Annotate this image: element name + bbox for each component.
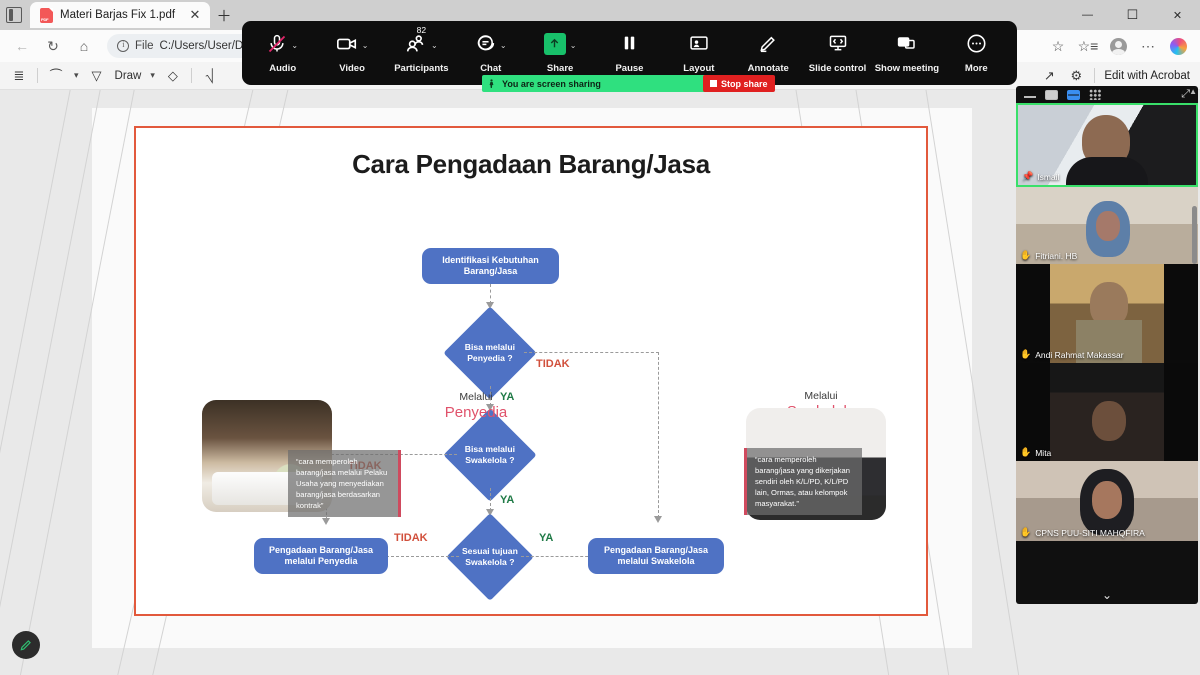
- browser-tab[interactable]: Materi Barjas Fix 1.pdf ✕: [30, 2, 210, 28]
- minimize-view-icon[interactable]: [1024, 92, 1036, 98]
- connector: [490, 488, 491, 511]
- slide-control-icon: [827, 33, 849, 53]
- chat-label: Chat: [480, 63, 501, 74]
- video-tile-name-row: ✋ Andi Rahmat Makassar: [1020, 349, 1124, 360]
- video-label: Video: [339, 63, 365, 74]
- pdf-file-icon: [40, 8, 53, 23]
- eraser-icon[interactable]: ◇: [164, 66, 182, 86]
- pdf-page: Cara Pengadaan Barang/Jasa Identifikasi …: [92, 108, 972, 648]
- edge-label-tidak-3: TIDAK: [394, 532, 428, 544]
- share-chevron-down-icon[interactable]: ⌄: [570, 41, 577, 50]
- camera-icon: [336, 33, 358, 55]
- video-tile-name-row: ✋ Mita: [1020, 447, 1051, 458]
- url-scheme: File: [135, 40, 154, 52]
- browser-actions: ☆ ☆≡ ⋯: [1044, 33, 1192, 59]
- list-icon[interactable]: ≣: [10, 66, 28, 86]
- info-icon: [117, 40, 129, 52]
- highlighter-icon[interactable]: ⏜: [47, 66, 65, 86]
- connector: [658, 352, 659, 518]
- zoom-control-participants[interactable]: 82 ⌄ Participants: [387, 21, 456, 85]
- close-tab-icon[interactable]: ✕: [187, 7, 203, 23]
- pencil-icon: [19, 638, 33, 652]
- page-title: Cara Pengadaan Barang/Jasa: [136, 149, 926, 180]
- video-tiles: 📌 Ismail ✋ Fitriani. HB ✋ And: [1016, 103, 1198, 541]
- flow-node-start: Identifikasi Kebutuhan Barang/Jasa: [422, 248, 559, 284]
- slide-control-label: Slide control: [809, 63, 867, 74]
- zoom-control-audio[interactable]: ⌄ Audio: [248, 21, 317, 85]
- right-caption-pre: Melalui: [766, 390, 876, 402]
- strip-view-icon[interactable]: [1067, 90, 1080, 100]
- more-label: More: [965, 63, 988, 74]
- left-quote: “cara memperoleh barang/jasa melalui Pel…: [288, 450, 401, 517]
- edit-with-acrobat-button[interactable]: Edit with Acrobat: [1104, 70, 1190, 82]
- panel-scrollbar[interactable]: [1192, 106, 1197, 601]
- stop-share-label: Stop share: [721, 79, 768, 89]
- avatar: [1092, 401, 1126, 441]
- stop-share-button[interactable]: Stop share: [703, 75, 775, 92]
- mic-muted-icon: ✋: [1020, 250, 1031, 261]
- tab-strip: Materi Barjas Fix 1.pdf ✕ ＋: [0, 0, 232, 30]
- participant-name: Mita: [1035, 448, 1051, 458]
- avatar-body: [1066, 157, 1148, 187]
- show-meeting-label: Show meeting: [875, 63, 939, 74]
- minimize-icon[interactable]: —: [1065, 0, 1110, 30]
- video-view-modes: ⤢: [1016, 86, 1198, 103]
- scrollbar-thumb[interactable]: [1192, 206, 1197, 264]
- video-tile-name-row: ✋ Fitriani. HB: [1020, 250, 1077, 261]
- scroll-up-icon[interactable]: ▲: [1189, 87, 1197, 96]
- flow-outcome-swakelola: Pengadaan Barang/Jasa melalui Swakelola: [588, 538, 724, 574]
- sharing-text: You are screen sharing: [502, 79, 601, 89]
- divider: [37, 68, 38, 83]
- share-label: Share: [547, 63, 573, 74]
- draw-shape-icon[interactable]: ▽: [88, 66, 106, 86]
- video-tile[interactable]: ✋ Fitriani. HB: [1016, 187, 1198, 264]
- mic-muted-icon: ✋: [1020, 349, 1031, 360]
- new-tab-icon[interactable]: ＋: [216, 5, 232, 26]
- pencil-icon: [758, 33, 778, 54]
- participant-name: Fitriani. HB: [1035, 251, 1077, 261]
- participant-name: CPNS PUU-SITI MAHQFIRA: [1035, 528, 1145, 538]
- tab-actions-icon[interactable]: [6, 7, 22, 23]
- flow-outcome-penyedia: Pengadaan Barang/Jasa melalui Penyedia: [254, 538, 388, 574]
- show-meeting-icon: [895, 33, 918, 53]
- left-caption: Melalui Penyedia: [426, 391, 526, 421]
- draw-label[interactable]: Draw: [115, 70, 142, 82]
- draw-chevron-down-icon[interactable]: ▾: [150, 70, 155, 81]
- close-window-icon[interactable]: ✕: [1155, 0, 1200, 30]
- participants-label: Participants: [394, 63, 448, 74]
- gallery-view-icon[interactable]: [1089, 89, 1101, 100]
- copilot-icon[interactable]: [1164, 33, 1192, 59]
- participants-icon: [405, 33, 427, 55]
- layout-label: Layout: [683, 63, 714, 74]
- pin-icon: 📌: [1022, 171, 1033, 182]
- arrow-down-icon: [322, 518, 330, 525]
- profile-avatar[interactable]: [1104, 33, 1132, 59]
- speaker-view-icon[interactable]: [1045, 90, 1058, 100]
- pause-label: Pause: [615, 63, 643, 74]
- connector: [376, 556, 459, 557]
- tab-title: Materi Barjas Fix 1.pdf: [60, 9, 180, 21]
- flow-decision-1-label: Bisa melalui Penyedia ?: [457, 342, 523, 364]
- video-tile[interactable]: 📌 Ismail: [1016, 103, 1198, 187]
- divider: [191, 68, 192, 83]
- audio-label: Audio: [269, 63, 296, 74]
- connector: [490, 284, 491, 304]
- edge-label-ya-2: YA: [500, 494, 514, 506]
- divider: [1094, 68, 1095, 83]
- video-tile[interactable]: ✋ CPNS PUU-SITI MAHQFIRA: [1016, 461, 1198, 541]
- audio-chevron-down-icon[interactable]: ⌄: [291, 41, 298, 50]
- pause-icon: [620, 33, 639, 53]
- annotate-label: Annotate: [748, 63, 789, 74]
- left-caption-pre: Melalui: [426, 391, 526, 403]
- chat-chevron-down-icon[interactable]: ⌄: [500, 41, 507, 50]
- edge-label-tidak-1: TIDAK: [536, 358, 570, 370]
- connector: [524, 352, 659, 353]
- annotate-fab-button[interactable]: [12, 631, 40, 659]
- connector: [521, 556, 598, 557]
- right-quote: “cara memperoleh barang/jasa yang dikerj…: [744, 448, 862, 515]
- zoom-control-more[interactable]: More: [942, 21, 1011, 85]
- video-chevron-down-icon[interactable]: ⌄: [362, 41, 369, 50]
- favorite-star-icon[interactable]: ☆: [1044, 33, 1072, 59]
- share-screen-icon: [544, 33, 566, 55]
- arrow-down-icon: [654, 516, 662, 523]
- video-tile[interactable]: ✋ Andi Rahmat Makassar: [1016, 264, 1198, 363]
- zoom-control-show-meeting[interactable]: Show meeting: [872, 21, 941, 85]
- scroll-down-icon[interactable]: ⌄: [1016, 588, 1198, 602]
- participants-chevron-down-icon[interactable]: ⌄: [431, 41, 438, 50]
- textbox-icon[interactable]: ⎷: [201, 66, 219, 86]
- screen: Materi Barjas Fix 1.pdf ✕ ＋ — ☐ ✕ ← ↻ ⌂ …: [0, 0, 1200, 675]
- mic-muted-icon: ✋: [1020, 527, 1031, 538]
- home-icon[interactable]: ⌂: [70, 33, 98, 59]
- layout-icon: [688, 33, 710, 53]
- avatar-face: [1092, 481, 1122, 519]
- participant-name: Andi Rahmat Makassar: [1035, 350, 1123, 360]
- refresh-icon[interactable]: ↻: [39, 33, 67, 59]
- flow-decision-3: Sesuai tujuan Swakelola ?: [446, 513, 534, 601]
- video-tile[interactable]: ✋ Mita: [1016, 363, 1198, 461]
- more-dots-icon: [966, 33, 987, 54]
- highlighter-chevron-down-icon[interactable]: ▾: [74, 70, 79, 81]
- participants-video-panel: ⤢ 📌 Ismail ✋ Fitriani. HB: [1016, 86, 1198, 604]
- stop-square-icon: [710, 80, 717, 87]
- mic-muted-icon: [267, 33, 287, 55]
- fit-page-icon[interactable]: ↗: [1040, 66, 1058, 86]
- video-tile-name-row: 📌 Ismail: [1022, 171, 1059, 182]
- participants-count-badge: 82: [417, 25, 426, 35]
- back-icon[interactable]: ←: [8, 33, 36, 59]
- chat-icon: [475, 33, 496, 54]
- flow-decision-3-label: Sesuai tujuan Swakelola ?: [459, 546, 521, 568]
- window-controls: — ☐ ✕: [1065, 0, 1200, 30]
- left-caption-title: Penyedia: [426, 404, 526, 421]
- maximize-icon[interactable]: ☐: [1110, 0, 1155, 30]
- gear-icon[interactable]: ⚙: [1067, 66, 1085, 86]
- sharing-person-icon: [487, 78, 496, 89]
- slide-content: Cara Pengadaan Barang/Jasa Identifikasi …: [134, 126, 928, 616]
- collections-icon[interactable]: ☆≡: [1074, 33, 1102, 59]
- avatar-face: [1096, 211, 1120, 241]
- zoom-control-video[interactable]: ⌄ Video: [317, 21, 386, 85]
- video-tile-name-row: ✋ CPNS PUU-SITI MAHQFIRA: [1020, 527, 1145, 538]
- mic-muted-icon: ✋: [1020, 447, 1031, 458]
- participant-name: Ismail: [1037, 172, 1059, 182]
- edge-label-ya-3: YA: [539, 532, 553, 544]
- pdf-toolbar-right: ↗ ⚙ Edit with Acrobat: [1040, 66, 1190, 86]
- flow-decision-2-label: Bisa melalui Swakelola ?: [457, 444, 523, 466]
- zoom-control-slide-control[interactable]: Slide control: [803, 21, 872, 85]
- more-settings-icon[interactable]: ⋯: [1134, 33, 1162, 59]
